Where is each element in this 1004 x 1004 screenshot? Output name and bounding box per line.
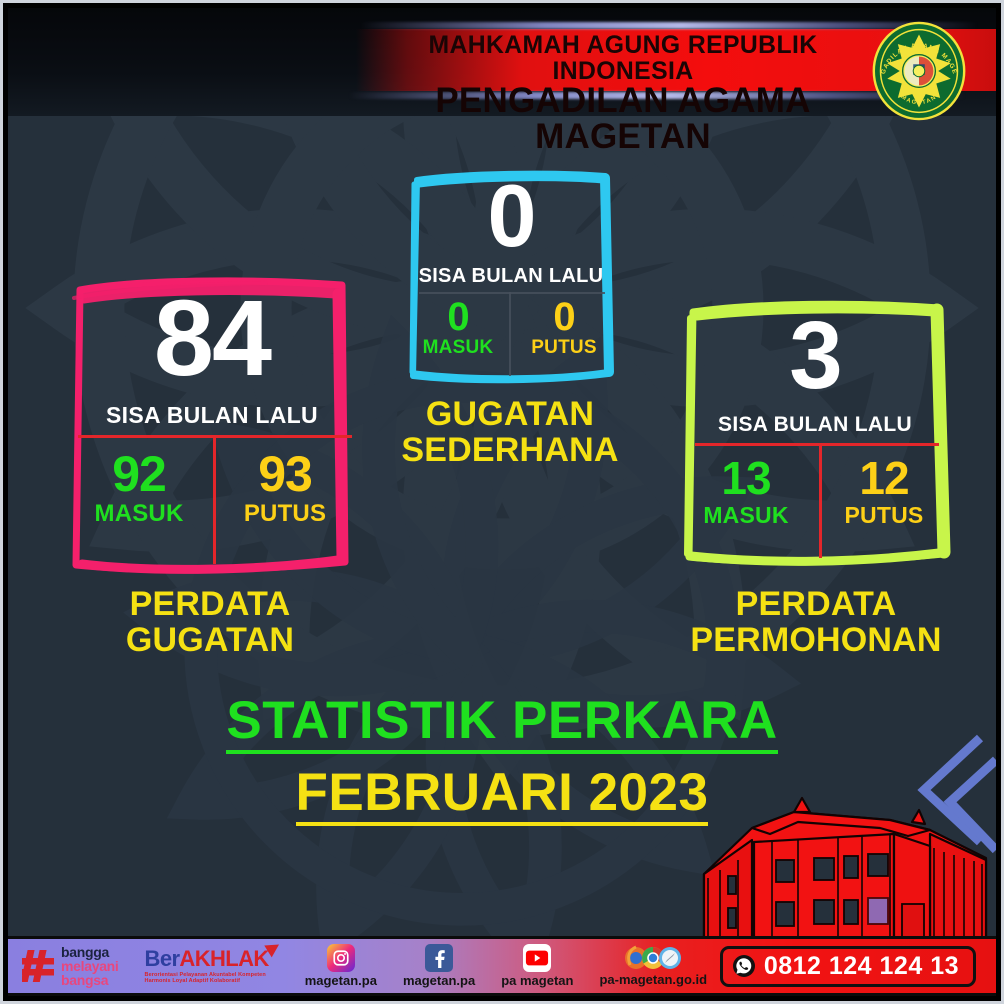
masuk-label: MASUK bbox=[66, 500, 212, 528]
card-split-row: 0 MASUK 0 PUTUS bbox=[405, 298, 617, 359]
putus-block: 12 PUTUS bbox=[815, 457, 953, 529]
masuk-label: MASUK bbox=[405, 337, 511, 359]
poster: MAHKAMAH AGUNG REPUBLIK INDONESIA PENGAD… bbox=[0, 0, 1004, 1004]
sisa-label: SISA BULAN LALU bbox=[677, 413, 953, 437]
sisa-label: SISA BULAN LALU bbox=[405, 265, 617, 288]
sisa-value: 3 bbox=[677, 312, 953, 400]
youtube-icon[interactable] bbox=[523, 944, 551, 972]
browsers-icon[interactable] bbox=[622, 945, 684, 971]
berakhlak-tagline-2: Harmonis Loyal Adaptif Kolaboratif bbox=[145, 978, 269, 984]
youtube-handle: pa magetan bbox=[501, 973, 573, 988]
bangga-text-group: bangga melayani bangsa bbox=[61, 945, 119, 987]
header-banner: MAHKAMAH AGUNG REPUBLIK INDONESIA PENGAD… bbox=[8, 8, 996, 116]
court-seal-icon: PENGADILAN AGAMA MAGETAN MAGETAN bbox=[870, 21, 968, 121]
masuk-block: 0 MASUK bbox=[405, 298, 511, 359]
footer-bar: bangga melayani bangsa BerAKHLAK Berorie… bbox=[8, 936, 996, 996]
masuk-value: 13 bbox=[677, 457, 815, 501]
masuk-label: MASUK bbox=[677, 502, 815, 529]
card-content: 3 SISA BULAN LALU 13 MASUK 12 PUTUS bbox=[677, 300, 953, 568]
whatsapp-icon bbox=[732, 954, 756, 978]
card-caption-perdata-permohonan: PERDATA PERMOHONAN bbox=[656, 586, 976, 658]
title-periode: FEBRUARI 2023 bbox=[296, 766, 709, 826]
stat-card-perdata-permohonan: 3 SISA BULAN LALU 13 MASUK 12 PUTUS bbox=[677, 300, 953, 568]
putus-value: 93 bbox=[212, 451, 358, 499]
header-text-group: MAHKAMAH AGUNG REPUBLIK INDONESIA PENGAD… bbox=[368, 32, 878, 154]
website-label: pa-magetan.go.id bbox=[599, 972, 707, 987]
berakhlak-akhlak: AKHLAK bbox=[179, 946, 268, 971]
putus-block: 93 PUTUS bbox=[212, 451, 358, 528]
hashtag-icon bbox=[22, 948, 56, 984]
card-split-row: 92 MASUK 93 PUTUS bbox=[66, 451, 358, 528]
header-court-name-line: PENGADILAN AGAMA MAGETAN bbox=[368, 83, 878, 154]
card-split-row: 13 MASUK 12 PUTUS bbox=[677, 457, 953, 529]
title-statistik-perkara: STATISTIK PERKARA bbox=[226, 694, 777, 754]
masuk-block: 13 MASUK bbox=[677, 457, 815, 529]
whatsapp-contact-pill[interactable]: 0812 124 124 13 bbox=[720, 946, 976, 987]
social-facebook[interactable]: magetan.pa bbox=[403, 944, 475, 988]
facebook-handle: magetan.pa bbox=[403, 973, 475, 988]
putus-label: PUTUS bbox=[815, 502, 953, 529]
facebook-icon[interactable] bbox=[425, 944, 453, 972]
bangga-line-2: melayani bbox=[61, 959, 119, 973]
instagram-handle: magetan.pa bbox=[305, 973, 377, 988]
stat-card-perdata-gugatan: 84 SISA BULAN LALU 92 MASUK 93 PUTUS bbox=[66, 276, 358, 576]
masuk-value: 92 bbox=[66, 451, 212, 499]
putus-block: 0 PUTUS bbox=[511, 298, 617, 359]
putus-value: 0 bbox=[511, 298, 617, 336]
sisa-value: 0 bbox=[405, 176, 617, 257]
card-caption-gugatan-sederhana: GUGATAN SEDERHANA bbox=[360, 396, 660, 468]
card-content: 84 SISA BULAN LALU 92 MASUK 93 PUTUS bbox=[66, 276, 358, 576]
berakhlak-ber: Ber bbox=[145, 946, 180, 971]
bangga-melayani-bangsa-logo: bangga melayani bangsa bbox=[22, 945, 119, 987]
card-content: 0 SISA BULAN LALU 0 MASUK 0 PUTUS bbox=[405, 168, 617, 386]
berakhlak-wordmark: BerAKHLAK bbox=[145, 948, 269, 970]
stat-card-gugatan-sederhana: 0 SISA BULAN LALU 0 MASUK 0 PUTUS bbox=[405, 168, 617, 386]
header-institution-line: MAHKAMAH AGUNG REPUBLIK INDONESIA bbox=[371, 32, 876, 84]
poster-stage: MAHKAMAH AGUNG REPUBLIK INDONESIA PENGAD… bbox=[8, 8, 996, 996]
putus-label: PUTUS bbox=[212, 500, 358, 528]
sisa-label: SISA BULAN LALU bbox=[66, 402, 358, 429]
social-website[interactable]: pa-magetan.go.id bbox=[599, 945, 707, 987]
social-instagram[interactable]: magetan.pa bbox=[305, 944, 377, 988]
card-caption-perdata-gugatan: PERDATA GUGATAN bbox=[50, 586, 370, 658]
bangga-line-3: bangsa bbox=[61, 973, 119, 987]
berakhlak-logo: BerAKHLAK Berorientasi Pelayanan Akuntab… bbox=[145, 948, 269, 984]
sisa-value: 84 bbox=[66, 288, 358, 387]
putus-label: PUTUS bbox=[511, 337, 617, 359]
social-youtube[interactable]: pa magetan bbox=[501, 944, 573, 988]
masuk-block: 92 MASUK bbox=[66, 451, 212, 528]
whatsapp-number: 0812 124 124 13 bbox=[764, 952, 959, 981]
bangga-line-1: bangga bbox=[61, 945, 119, 959]
instagram-icon[interactable] bbox=[327, 944, 355, 972]
main-title-group: STATISTIK PERKARA FEBRUARI 2023 bbox=[8, 694, 996, 826]
putus-value: 12 bbox=[815, 457, 953, 501]
masuk-value: 0 bbox=[405, 298, 511, 336]
berakhlak-tagline: Berorientasi Pelayanan Akuntabel Kompete… bbox=[145, 972, 269, 984]
